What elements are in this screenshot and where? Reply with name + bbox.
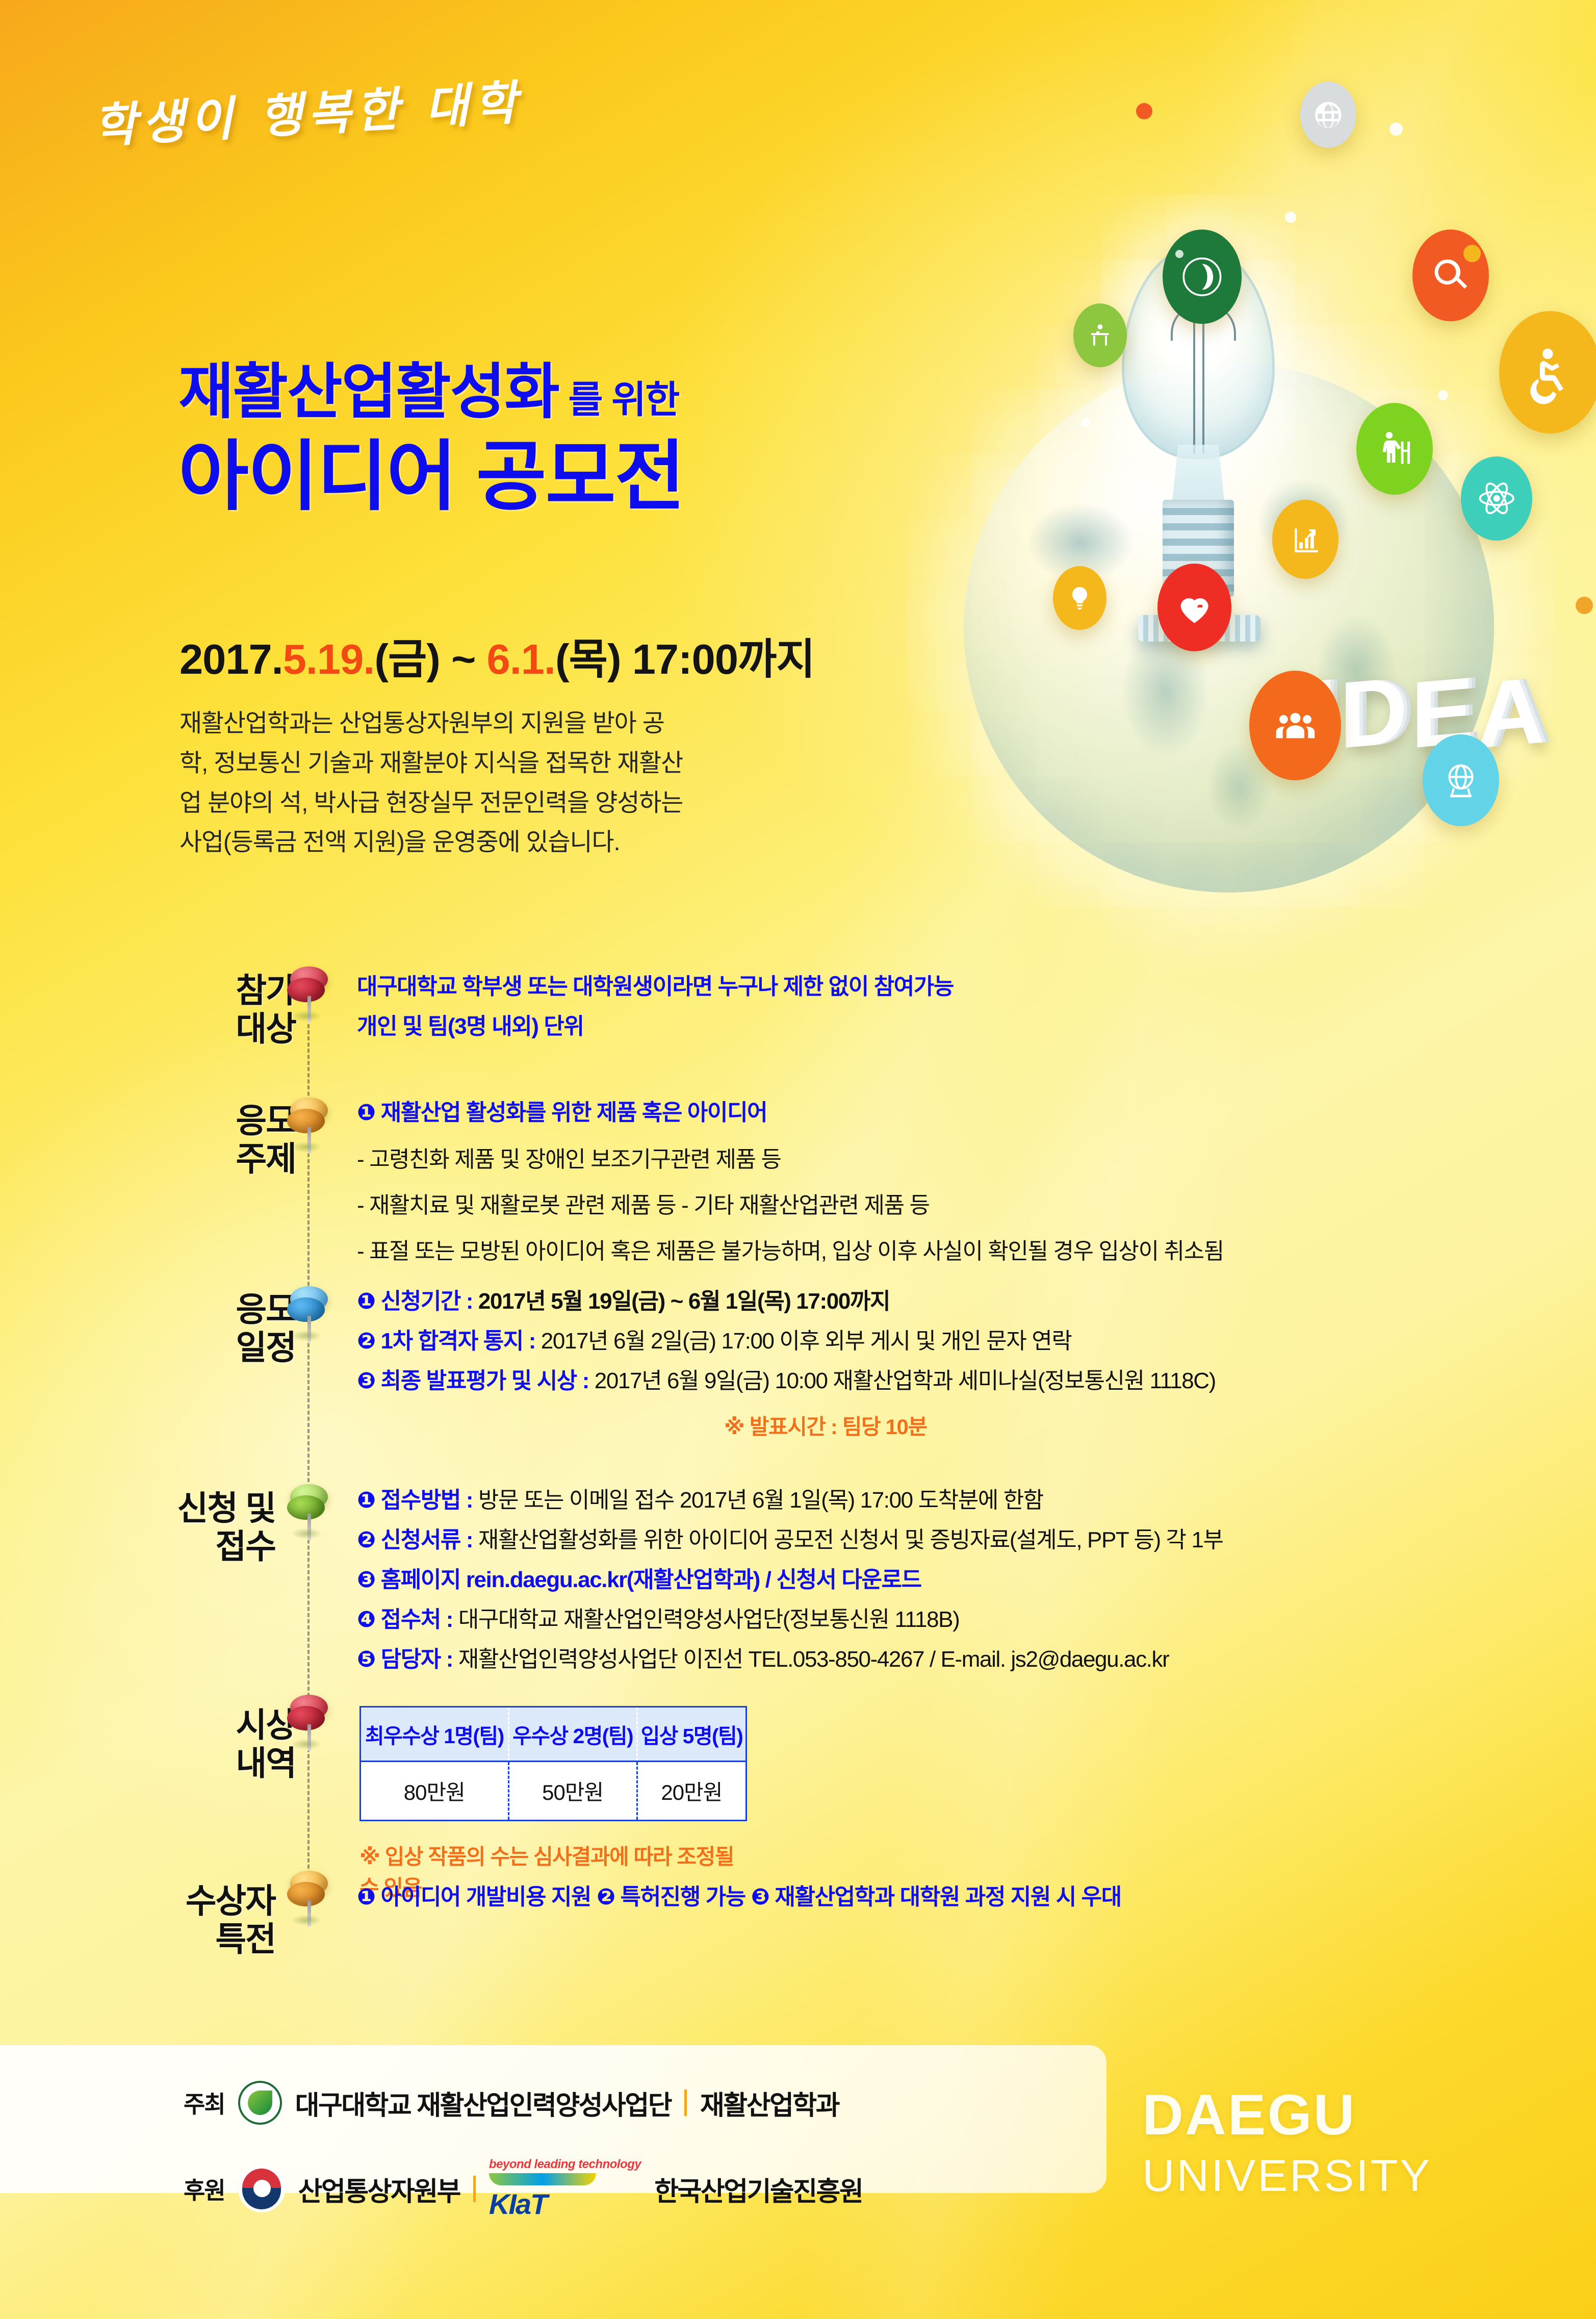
content-key: ❹ 접수처 : bbox=[357, 1607, 458, 1632]
divider bbox=[473, 2176, 476, 2202]
prize-amount-cell: 20만원 bbox=[637, 1762, 746, 1821]
section-label-line1: 수상자 bbox=[186, 1882, 275, 1920]
headline-block: 재활산업활성화 를 위한 아이디어 공모전 bbox=[178, 357, 943, 521]
kiat-logo-icon: beyond leading technology KIaT bbox=[489, 2157, 641, 2221]
bulb-filament bbox=[1193, 321, 1204, 454]
daegu-university-emblem-icon bbox=[1163, 230, 1242, 324]
decor-dot bbox=[1137, 451, 1145, 460]
divider bbox=[684, 2089, 687, 2116]
content-line: 개인 및 팀(3명 내외) 단위 bbox=[357, 1015, 954, 1038]
decor-dot bbox=[1576, 597, 1593, 614]
event-date-line: 2017.5.19.(금) ~ 6.1.(목) 17:00까지 bbox=[179, 625, 815, 686]
elderly-walker-icon bbox=[1356, 403, 1433, 495]
decor-dot bbox=[1389, 122, 1403, 136]
date-start: 5.19. bbox=[283, 635, 375, 683]
decor-dot bbox=[1136, 103, 1152, 119]
section-label: 참가 대상 bbox=[127, 972, 296, 1048]
section-body: ❶ 재활산업 활성화를 위한 제품 혹은 아이디어 - 고령친화 제품 및 장애… bbox=[357, 1102, 1224, 1280]
content-key: ❺ 담당자 : bbox=[357, 1647, 458, 1672]
headline-line-2: 아이디어 공모전 bbox=[178, 432, 943, 521]
hero-artwork: I D E A bbox=[897, 77, 1596, 989]
kiat-wordmark: KIaT bbox=[489, 2187, 547, 2221]
content-value: 대구대학교 재활산업인력양성사업단(정보통신원 1118B) bbox=[458, 1607, 960, 1632]
motie-logo-icon bbox=[238, 2165, 285, 2212]
content-key: ❷ 1차 합격자 통지 : bbox=[357, 1329, 541, 1354]
brand-line-2: UNIVERSITY bbox=[1142, 2151, 1432, 2201]
daegu-university-logo-icon bbox=[238, 2081, 282, 2125]
content-value: 방문 또는 이메일 접수 2017년 6월 1일(목) 17:00 도착분에 한… bbox=[478, 1488, 1043, 1513]
prize-header-cell: 최우수상 1명(팀) bbox=[361, 1707, 509, 1762]
globe-icon bbox=[1300, 82, 1356, 148]
prize-amount-cell: 80만원 bbox=[361, 1762, 509, 1821]
section-body: 최우수상 1명(팀) 우수상 2명(팀) 입상 5명(팀) 80만원 50만원 … bbox=[359, 1706, 747, 1902]
idea-letter-d: D bbox=[1340, 665, 1408, 761]
brand-line-1: DAEGU bbox=[1142, 2083, 1432, 2146]
content-value: 2017년 6월 9일(금) 10:00 재활산업학과 세미나실(정보통신원 1… bbox=[595, 1368, 1216, 1393]
pushpin-icon bbox=[287, 1484, 331, 1540]
date-end-day: (목) 17:00까지 bbox=[555, 635, 815, 683]
university-slogan: 학생이 행복한 대학 bbox=[91, 65, 523, 157]
section-body: ❶ 아이디어 개발비용 지원 ❷ 특허진행 가능 ❸ 재활산업학과 대학원 과정… bbox=[357, 1886, 1121, 1926]
section-label: 시상 내역 bbox=[127, 1706, 296, 1782]
decor-dot bbox=[1175, 250, 1183, 258]
content-line: - 재활치료 및 재활로봇 관련 제품 등 - 기타 재활산업관련 제품 등 bbox=[357, 1194, 1224, 1217]
footer-host-row: 주최 대구대학교 재활산업인력양성사업단 재활산업학과 bbox=[184, 2081, 839, 2125]
host-department: 재활산업학과 bbox=[700, 2084, 839, 2122]
prize-header-cell: 우수상 2명(팀) bbox=[508, 1707, 637, 1762]
section-body: ❶ 접수방법 : 방문 또는 이메일 접수 2017년 6월 1일(목) 17:… bbox=[357, 1489, 1223, 1688]
content-line: ❺ 담당자 : 재활산업인력양성사업단 이진선 TEL.053-850-4267… bbox=[357, 1648, 1223, 1671]
sponsor-kiat-name: 한국산업기술진흥원 bbox=[654, 2170, 862, 2208]
bar-chart-icon bbox=[1272, 500, 1338, 579]
section-label: 수상자 특전 bbox=[107, 1882, 275, 1958]
content-key: ❶ 접수방법 : bbox=[357, 1488, 478, 1513]
globe-stand-icon bbox=[1423, 734, 1499, 826]
table-row: 80만원 50만원 20만원 bbox=[361, 1762, 746, 1821]
search-icon bbox=[1412, 230, 1489, 321]
decor-dot bbox=[1438, 390, 1448, 400]
content-line: ❶ 재활산업 활성화를 위한 제품 혹은 아이디어 bbox=[357, 1102, 1224, 1124]
pushpin-icon bbox=[287, 1098, 331, 1154]
atom-icon bbox=[1461, 456, 1532, 541]
section-label: 응모 일정 bbox=[127, 1290, 296, 1366]
pushpin-icon bbox=[287, 966, 331, 1023]
content-line: ❶ 접수방법 : 방문 또는 이메일 접수 2017년 6월 1일(목) 17:… bbox=[357, 1489, 1223, 1512]
content-line: - 표절 또는 모방된 아이디어 혹은 제품은 불가능하며, 입상 이후 사실이… bbox=[357, 1240, 1224, 1263]
content-line: ❷ 1차 합격자 통지 : 2017년 6월 2일(금) 17:00 이후 외부… bbox=[357, 1330, 1216, 1353]
date-year: 2017. bbox=[179, 635, 283, 683]
section-body: 대구대학교 학부생 또는 대학원생이라면 누구나 제한 없이 참여가능 개인 및… bbox=[357, 976, 954, 1055]
content-value: 재활산업인력양성사업단 이진선 TEL.053-850-4267 / E-mai… bbox=[458, 1647, 1169, 1672]
prize-header-cell: 입상 5명(팀) bbox=[637, 1707, 746, 1762]
host-organization: 대구대학교 재활산업인력양성사업단 bbox=[295, 2084, 671, 2122]
prize-table: 최우수상 1명(팀) 우수상 2명(팀) 입상 5명(팀) 80만원 50만원 … bbox=[359, 1706, 747, 1821]
headline-line-1: 재활산업활성화 를 위한 bbox=[178, 357, 943, 428]
date-start-day: (금) ~ bbox=[374, 635, 486, 683]
table-header-row: 최우수상 1명(팀) 우수상 2명(팀) 입상 5명(팀) bbox=[361, 1707, 746, 1762]
section-label-line2: 접수 bbox=[216, 1527, 275, 1565]
content-key: ❸ 최종 발표평가 및 시상 : bbox=[357, 1368, 595, 1393]
content-line: ❶ 신청기간 : 2017년 5월 19일(금) ~ 6월 1일(목) 17:0… bbox=[357, 1290, 1216, 1313]
content-line: ❹ 접수처 : 대구대학교 재활산업인력양성사업단(정보통신원 1118B) bbox=[357, 1609, 1223, 1631]
poster-root: 학생이 행복한 대학 I D E A bbox=[0, 0, 1596, 2319]
host-tag: 주최 bbox=[184, 2086, 225, 2120]
content-key: ❶ 신청기간 : bbox=[357, 1289, 478, 1314]
decor-dot bbox=[1285, 212, 1296, 223]
section-label: 신청 및 접수 bbox=[107, 1489, 275, 1565]
content-line: ❷ 신청서류 : 재활산업활성화를 위한 아이디어 공모전 신청서 및 증빙자료… bbox=[357, 1529, 1223, 1551]
heart-pulse-icon bbox=[1157, 564, 1231, 651]
section-body: ❶ 신청기간 : 2017년 5월 19일(금) ~ 6월 1일(목) 17:0… bbox=[357, 1290, 1216, 1441]
pushpin-icon bbox=[287, 1695, 331, 1751]
people-group-icon bbox=[1249, 671, 1341, 780]
date-end: 6.1. bbox=[487, 635, 555, 683]
headline-suffix: 를 위한 bbox=[559, 378, 679, 421]
sponsor-ministry: 산업통상자원부 bbox=[298, 2170, 460, 2208]
decor-dot bbox=[1463, 245, 1481, 262]
prize-amount-cell: 50만원 bbox=[508, 1762, 637, 1821]
schedule-note: ※ 발표시간 : 팀당 10분 bbox=[724, 1410, 1216, 1441]
daegu-university-wordmark: DAEGU UNIVERSITY bbox=[1142, 2083, 1432, 2201]
section-label-line1: 신청 및 bbox=[177, 1489, 276, 1527]
content-value: 2017년 6월 2일(금) 17:00 이후 외부 게시 및 개인 문자 연락 bbox=[541, 1329, 1072, 1354]
desk-study-icon bbox=[1073, 303, 1127, 367]
pushpin-icon bbox=[287, 1871, 331, 1927]
program-description: 재활산업학과는 산업통상자원부의 지원을 받아 공학, 정보통신 기술과 재활분… bbox=[179, 704, 689, 862]
content-line: ❸ 홈페이지 rein.daegu.ac.kr(재활산업학과) / 신청서 다운… bbox=[357, 1569, 1223, 1591]
pushpin-icon bbox=[287, 1286, 331, 1342]
section-label: 응모 주제 bbox=[127, 1102, 296, 1178]
lightbulb-icon bbox=[1053, 566, 1106, 630]
kiat-arc bbox=[489, 2173, 596, 2185]
content-line: ❶ 아이디어 개발비용 지원 ❷ 특허진행 가능 ❸ 재활산업학과 대학원 과정… bbox=[357, 1886, 1121, 1908]
sponsor-tag: 후원 bbox=[184, 2172, 225, 2206]
content-line: ❸ 최종 발표평가 및 시상 : 2017년 6월 9일(금) 10:00 재활… bbox=[357, 1370, 1216, 1392]
content-line: 대구대학교 학부생 또는 대학원생이라면 누구나 제한 없이 참여가능 bbox=[357, 976, 954, 998]
content-value: 재활산업활성화를 위한 아이디어 공모전 신청서 및 증빙자료(설계도, PPT… bbox=[478, 1527, 1223, 1552]
kiat-tagline: beyond leading technology bbox=[489, 2157, 641, 2172]
content-key: ❷ 신청서류 : bbox=[357, 1527, 478, 1552]
content-value: 2017년 5월 19일(금) ~ 6월 1일(목) 17:00까지 bbox=[478, 1289, 890, 1314]
footer-sponsor-row: 후원 산업통상자원부 beyond leading technology KIa… bbox=[184, 2157, 862, 2221]
idea-3d-word: I D E A bbox=[1310, 668, 1545, 759]
content-line: - 고령친화 제품 및 장애인 보조기구관련 제품 등 bbox=[357, 1149, 1224, 1171]
decor-dot bbox=[1081, 418, 1090, 427]
wheelchair-icon bbox=[1499, 311, 1596, 434]
section-label-line2: 특전 bbox=[216, 1920, 275, 1958]
headline-main: 재활산업활성화 bbox=[178, 359, 559, 426]
